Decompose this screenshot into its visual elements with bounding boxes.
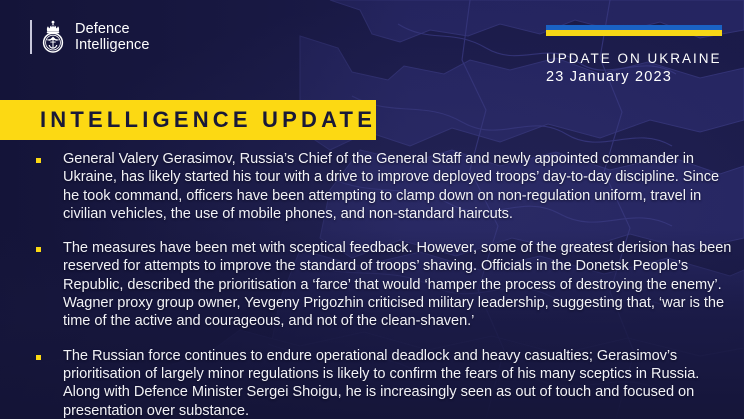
square-bullet-icon xyxy=(36,158,41,163)
list-item: The measures have been met with sceptica… xyxy=(36,239,736,330)
mod-crown-crest-icon xyxy=(40,20,66,54)
list-item: The Russian force continues to endure op… xyxy=(36,347,736,419)
logo-wordmark: Defence Intelligence xyxy=(75,21,150,54)
logo-line-two: Intelligence xyxy=(75,37,150,54)
defence-intelligence-logo: Defence Intelligence xyxy=(30,20,150,54)
bullet-text: The Russian force continues to endure op… xyxy=(63,347,736,419)
intelligence-update-graphic: Defence Intelligence UPDATE ON UKRAINE 2… xyxy=(0,0,744,419)
ukraine-flag-bar xyxy=(546,25,722,36)
update-date: 23 January 2023 xyxy=(546,68,722,87)
list-item: General Valery Gerasimov, Russia’s Chief… xyxy=(36,150,736,223)
intelligence-update-banner: INTELLIGENCE UPDATE xyxy=(0,100,376,140)
bullet-text: General Valery Gerasimov, Russia’s Chief… xyxy=(63,150,736,223)
square-bullet-icon xyxy=(36,355,41,360)
bullet-text: The measures have been met with sceptica… xyxy=(63,239,736,330)
logo-line-one: Defence xyxy=(75,21,150,38)
logo-divider xyxy=(30,20,32,54)
update-header: UPDATE ON UKRAINE 23 January 2023 xyxy=(546,25,722,87)
square-bullet-icon xyxy=(36,247,41,252)
banner-title: INTELLIGENCE UPDATE xyxy=(40,107,376,133)
update-title: UPDATE ON UKRAINE xyxy=(546,50,722,68)
flag-yellow-stripe xyxy=(546,30,722,36)
bullet-list: General Valery Gerasimov, Russia’s Chief… xyxy=(36,150,736,419)
